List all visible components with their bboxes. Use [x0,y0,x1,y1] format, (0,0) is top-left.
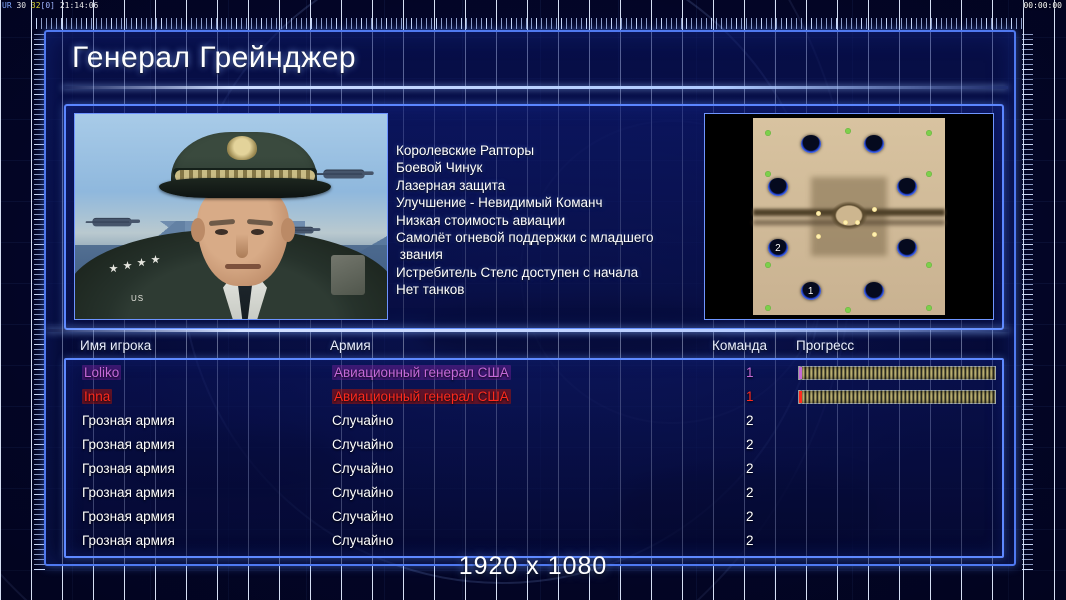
supply-dock-icon [765,130,771,136]
player-team-cell[interactable]: 1 [746,389,754,404]
player-army-cell[interactable]: Авиационный генерал США [332,389,511,404]
supply-dock-icon [926,130,932,136]
supply-dock-icon [765,305,771,311]
start-position-label [897,239,917,257]
player-army-cell[interactable]: Случайно [332,461,393,476]
column-header-name: Имя игрока [80,338,151,353]
table-row[interactable]: Грозная армияСлучайно2 [66,434,998,458]
oil-derrick-icon [816,211,821,216]
osd-segment: 30 [12,1,31,10]
player-team-cell[interactable]: 1 [746,365,754,380]
bonus-item: Королевские Рапторы [396,142,696,159]
player-team-cell[interactable]: 2 [746,485,754,500]
supply-dock-icon [926,171,932,177]
map-center-feature [830,201,868,231]
map-start-position[interactable] [897,239,917,257]
table-row[interactable]: Грозная армияСлучайно2 [66,458,998,482]
table-row[interactable]: LolikoАвиационный генерал США1 [66,362,998,386]
portrait-eye [251,229,264,235]
column-header-team: Команда [712,338,767,353]
bonus-item: Боевой Чинук [396,159,696,176]
map-start-position[interactable] [768,178,788,196]
supply-dock-icon [765,171,771,177]
player-army-cell[interactable]: Случайно [332,413,393,428]
portrait-nose [236,234,248,258]
bonus-item: Лазерная защита [396,177,696,194]
ruler-strip-bottom [0,0,944,16]
player-name-cell[interactable]: Грозная армия [82,413,175,428]
osd-timer: 00:00:00 [1023,1,1062,10]
eagle-crest-icon [227,136,257,160]
column-header-army: Армия [330,338,371,353]
osd-status-text: UR 30 32[0] 21:14:06 [2,1,98,10]
player-team-cell[interactable]: 2 [746,413,754,428]
progress-bar [798,390,996,404]
bonus-item: Низкая стоимость авиации [396,212,696,229]
player-name-cell[interactable]: Грозная армия [82,461,175,476]
start-position-label [768,178,788,196]
helicopter-icon [92,219,131,227]
column-header-progress: Прогресс [796,338,854,353]
section-divider [46,329,1010,332]
bonus-item: Улучшение - Невидимый Команч [396,194,696,211]
osd-segment: 21:14:06 [55,1,98,10]
player-name-cell[interactable]: Loliko [82,365,121,380]
player-list: LolikoАвиационный генерал США1InnaАвиаци… [64,358,1004,558]
progress-bar [798,366,996,380]
page-title: Генерал Грейнджер [72,41,356,75]
start-position-label [897,178,917,196]
cap-brim [159,178,331,198]
oil-derrick-icon [872,207,877,212]
player-name-cell[interactable]: Грозная армия [82,485,175,500]
player-team-cell[interactable]: 2 [746,437,754,452]
uniform-us-insignia: US [131,294,144,303]
shoulder-board [331,255,365,295]
player-team-cell[interactable]: 2 [746,533,754,548]
supply-dock-icon [926,262,932,268]
player-table-header: Имя игрока Армия Команда Прогресс [64,338,1000,358]
supply-dock-icon [926,305,932,311]
table-row[interactable]: Грозная армияСлучайно2 [66,506,998,530]
bonus-item: Нет танков [396,281,696,298]
start-position-label [864,135,884,153]
start-position-label [864,282,884,300]
progress-bar-cap [799,367,802,379]
table-row[interactable]: Грозная армияСлучайно2 [66,482,998,506]
title-divider [62,86,1008,89]
supply-dock-icon [845,128,851,134]
player-team-cell[interactable]: 2 [746,461,754,476]
portrait-mouth [225,264,261,269]
map-start-position[interactable] [897,178,917,196]
table-row[interactable]: InnaАвиационный генерал США1 [66,386,998,410]
osd-segment: [0] [41,1,55,10]
bonus-item: звания [396,246,696,263]
player-army-cell[interactable]: Случайно [332,485,393,500]
player-name-cell[interactable]: Грозная армия [82,533,175,548]
start-position-label: 2 [768,239,788,257]
general-granger-portrait: US [74,113,388,320]
start-position-label: 1 [801,282,821,300]
map-start-position[interactable] [864,282,884,300]
general-bonus-list: Королевские Рапторы Боевой Чинук Лазерна… [396,142,696,299]
progress-bar-cap [799,391,802,403]
player-name-cell[interactable]: Грозная армия [82,509,175,524]
player-team-cell[interactable]: 2 [746,509,754,524]
bonus-item: Самолёт огневой поддержки с младшего [396,229,696,246]
player-army-cell[interactable]: Случайно [332,533,393,548]
table-row[interactable]: Грозная армияСлучайно2 [66,530,998,554]
map-start-position[interactable] [801,135,821,153]
osd-segment: 32 [31,1,41,10]
supply-dock-icon [845,307,851,313]
player-army-cell[interactable]: Случайно [332,509,393,524]
map-image: 21 [753,118,945,315]
player-army-cell[interactable]: Случайно [332,437,393,452]
resolution-overlay: 1920 x 1080 [0,552,1066,581]
bonus-item: Истребитель Стелс доступен с начала [396,264,696,281]
map-start-position[interactable]: 1 [801,282,821,300]
player-name-cell[interactable]: Inna [82,389,112,404]
general-info-panel: US Королевские Рапторы Боевой Чинук Лазе… [64,104,1004,330]
player-name-cell[interactable]: Грозная армия [82,437,175,452]
portrait-eye [215,229,228,235]
osd-segment: UR [2,1,12,10]
table-row[interactable]: Грозная армияСлучайно2 [66,410,998,434]
map-start-position[interactable]: 2 [768,239,788,257]
player-army-cell[interactable]: Авиационный генерал США [332,365,511,380]
map-start-position[interactable] [864,135,884,153]
game-lobby-screen: Генерал Грейнджер [0,0,1066,600]
title-section: Генерал Грейнджер [62,40,1000,88]
helicopter-icon [323,170,364,178]
portrait-ear [281,218,295,242]
map-preview[interactable]: 21 [704,113,994,320]
start-position-label [801,135,821,153]
supply-dock-icon [765,262,771,268]
portrait-ear [191,218,205,242]
